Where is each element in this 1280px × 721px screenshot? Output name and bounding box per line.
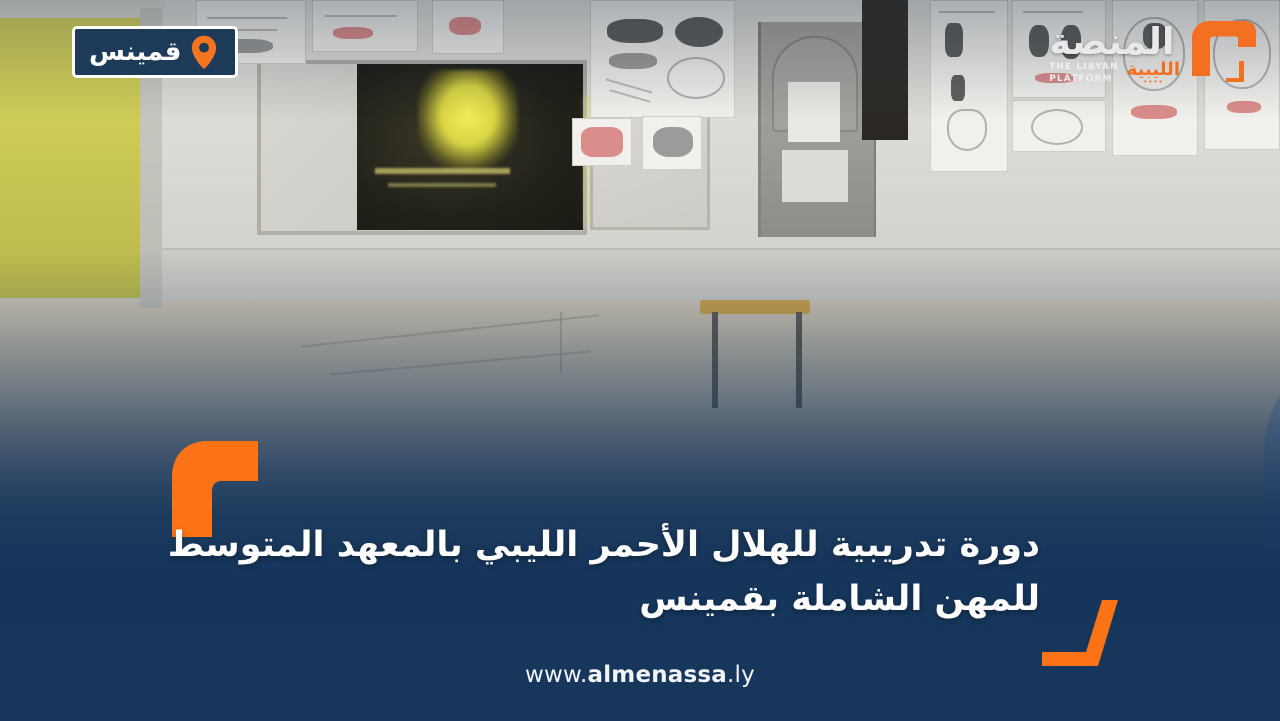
orange-angle-bracket-icon xyxy=(1042,600,1148,666)
logo-english-line2: PLATFORM xyxy=(1049,74,1112,85)
location-badge[interactable]: قمينس xyxy=(72,26,238,78)
url-tld: .ly xyxy=(727,662,755,688)
headline: دورة تدريبية للهلال الأحمر الليبي بالمعه… xyxy=(234,519,1040,625)
logo-arabic-secondary: الليبية xyxy=(1127,61,1180,79)
footer: www.almenassa.ly xyxy=(0,662,1280,688)
wall-poster xyxy=(642,116,702,170)
logo-english-line1: THE LIBYAN xyxy=(1049,62,1119,73)
logo-arabic-primary: المنصة xyxy=(1049,24,1174,59)
location-pin-icon xyxy=(191,35,217,69)
site-logo[interactable]: المنصة الليبية •••• THE LIBYAN PLATFORM xyxy=(1049,14,1260,88)
location-label: قمينس xyxy=(89,39,181,65)
wall-poster xyxy=(572,118,632,166)
headline-line-2: للمهن الشاملة بقمينس xyxy=(234,573,1040,626)
url-name: almenassa xyxy=(587,662,727,688)
headline-line-1: دورة تدريبية للهلال الأحمر الليبي بالمعه… xyxy=(234,519,1040,572)
logo-dots: •••• xyxy=(1143,79,1164,86)
url-prefix: www. xyxy=(525,662,587,688)
website-url[interactable]: www.almenassa.ly xyxy=(525,662,755,688)
bracket-logo-mark-icon xyxy=(1184,14,1260,88)
news-card: قمينس المنصة الليبية •••• THE LIBYAN PLA… xyxy=(0,0,1280,721)
